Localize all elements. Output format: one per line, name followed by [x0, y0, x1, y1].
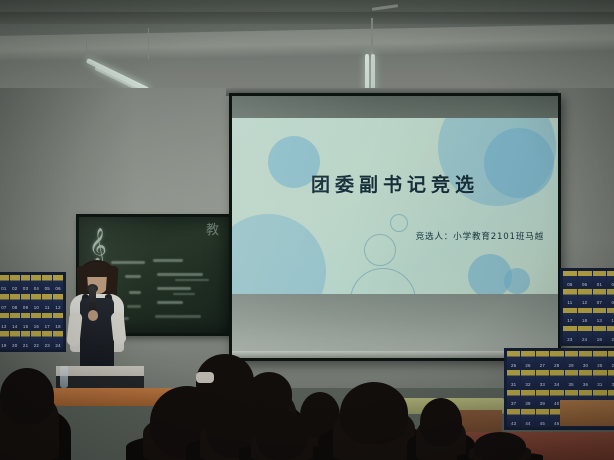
seat-pocket: 05 — [42, 275, 52, 293]
seat-number: 19 — [597, 338, 602, 343]
seat-number: 06 — [55, 287, 60, 292]
seat-pocket: 17 — [563, 308, 577, 325]
slide-subtitle: 竞选人：小学教育2101班马越 — [416, 230, 544, 242]
seat-number: 43 — [511, 422, 516, 427]
presenter-pinafore — [80, 298, 114, 376]
chalk-mark — [157, 301, 183, 304]
seat-number: 33 — [540, 383, 545, 388]
seat-pocket: 33 — [536, 370, 549, 388]
slide-circle-bottom-left-large — [232, 214, 326, 294]
seat-pocket: 11 — [563, 289, 577, 306]
chalk-mark — [155, 315, 201, 318]
seat-pocket: 09 — [21, 294, 31, 312]
seat-pocket: 12 — [53, 294, 63, 312]
seat-number: 12 — [55, 306, 60, 311]
seat-pocket: 25 — [593, 351, 606, 369]
presentation-slide: 团委副书记竞选 竞选人：小学教育2101班马越 — [232, 118, 558, 294]
seat-pocket: 13 — [0, 313, 9, 331]
seat-number: 24 — [55, 344, 60, 349]
water-bottle — [60, 366, 68, 388]
seat-number: 19 — [1, 344, 6, 349]
seat-number: 15 — [23, 325, 28, 330]
seat-pocket: 19 — [0, 331, 9, 349]
seat-number: 46 — [554, 422, 559, 427]
screen-surface: 团委副书记竞选 竞选人：小学教育2101班马越 — [232, 96, 558, 358]
light-hanger-rod-left2 — [148, 28, 149, 60]
seat-pocket: 32 — [608, 370, 614, 388]
seat-pocket: 24 — [578, 326, 592, 343]
seat-number: 20 — [12, 344, 17, 349]
seat-pocket: 20 — [607, 326, 614, 343]
seat-pocket: 32 — [521, 370, 534, 388]
slide-ring-center — [364, 234, 396, 266]
seat-pocket: 14 — [607, 308, 614, 325]
seat-number: 21 — [23, 344, 28, 349]
projection-screen: 团委副书记竞选 竞选人：小学教育2101班马越 — [229, 93, 561, 361]
seat-pocket: 23 — [42, 331, 52, 349]
right-upper-pocket-chart: 05060102111207081718131423241920 — [560, 268, 614, 346]
seat-number: 13 — [597, 319, 602, 324]
seat-pocket: 11 — [42, 294, 52, 312]
seat-pocket: 18 — [53, 313, 63, 331]
seat-pocket: 45 — [536, 409, 549, 427]
seat-pocket: 08 — [10, 294, 20, 312]
seat-pocket: 15 — [21, 313, 31, 331]
seat-pocket: 35 — [565, 370, 578, 388]
seat-pocket: 17 — [42, 313, 52, 331]
seat-number: 22 — [34, 344, 39, 349]
seat-number: 32 — [525, 383, 530, 388]
seat-number: 28 — [554, 364, 559, 369]
audience-head — [474, 432, 526, 460]
seat-pocket: 37 — [507, 390, 520, 408]
seat-number: 05 — [567, 283, 572, 288]
seat-pocket: 34 — [550, 370, 563, 388]
seat-number: 17 — [567, 319, 572, 324]
screen-top-band — [232, 96, 558, 118]
chalk-mark — [173, 293, 195, 295]
seat-pocket: 21 — [21, 331, 31, 349]
seat-pocket: 44 — [521, 409, 534, 427]
seat-number: 05 — [45, 287, 50, 292]
seat-number: 18 — [55, 325, 60, 330]
seat-number: 34 — [554, 383, 559, 388]
seat-pocket: 24 — [53, 331, 63, 349]
slide-ring-upper — [390, 214, 408, 232]
seat-pocket: 26 — [521, 351, 534, 369]
chalk-mark — [157, 287, 191, 290]
light-hanger-rod-center — [371, 18, 373, 56]
seat-pocket: 12 — [578, 289, 592, 306]
seat-pocket: 01 — [593, 271, 607, 288]
seat-pocket: 05 — [563, 271, 577, 288]
seat-number: 25 — [597, 364, 602, 369]
seat-number: 07 — [597, 301, 602, 306]
seat-number: 03 — [23, 287, 28, 292]
seat-pocket: 20 — [10, 331, 20, 349]
slide-title: 团委副书记竞选 — [232, 170, 558, 197]
seat-number: 01 — [1, 287, 6, 292]
seat-number: 45 — [540, 422, 545, 427]
seat-number: 01 — [597, 283, 602, 288]
seat-pocket: 10 — [31, 294, 41, 312]
seat-number: 12 — [582, 301, 587, 306]
seat-pocket: 39 — [536, 390, 549, 408]
seat-number: 17 — [45, 325, 50, 330]
seat-number: 27 — [540, 364, 545, 369]
seat-number: 10 — [34, 306, 39, 311]
desk-far-right — [560, 400, 614, 426]
seat-number: 39 — [540, 402, 545, 407]
seat-number: 35 — [569, 383, 574, 388]
seat-pocket: 07 — [593, 289, 607, 306]
seat-pocket: 38 — [521, 390, 534, 408]
hair-clip — [196, 372, 214, 383]
seat-number: 36 — [583, 383, 588, 388]
chalk-mark — [175, 279, 209, 281]
seat-pocket: 01 — [0, 275, 9, 293]
seat-pocket: 25 — [507, 351, 520, 369]
seat-pocket: 06 — [53, 275, 63, 293]
seat-number: 37 — [511, 402, 516, 407]
presenter-arm-right — [110, 311, 126, 344]
seat-number: 13 — [1, 325, 6, 330]
seat-pocket: 02 — [607, 271, 614, 288]
seat-pocket: 31 — [507, 370, 520, 388]
seat-pocket: 22 — [31, 331, 41, 349]
ceiling-edge-beam — [0, 12, 614, 24]
seat-number: 31 — [597, 383, 602, 388]
seat-number: 25 — [511, 364, 516, 369]
seat-pocket: 02 — [10, 275, 20, 293]
seat-pocket: 07 — [0, 294, 9, 312]
seat-pocket: 16 — [31, 313, 41, 331]
seat-pocket: 23 — [563, 326, 577, 343]
blackboard-character: 教 — [206, 219, 219, 238]
slide-circle-bottom-right-small — [504, 268, 530, 294]
seat-pocket: 30 — [579, 351, 592, 369]
seat-number: 23 — [45, 344, 50, 349]
presenter-student — [66, 258, 128, 376]
audience-head — [0, 368, 54, 424]
seat-number: 23 — [567, 338, 572, 343]
seat-pocket: 26 — [608, 351, 614, 369]
seat-pocket: 28 — [550, 351, 563, 369]
seat-number: 30 — [583, 364, 588, 369]
audience-head — [340, 382, 408, 444]
classroom-photo: 𝄞 教 010203040506070809101112131415161718… — [0, 0, 614, 460]
chalk-mark — [157, 273, 203, 276]
seat-number: 04 — [34, 287, 39, 292]
seat-number: 08 — [12, 306, 17, 311]
seat-pocket: 27 — [536, 351, 549, 369]
seat-number: 11 — [45, 306, 50, 311]
seat-pocket: 14 — [10, 313, 20, 331]
seat-number: 18 — [582, 319, 587, 324]
light-hanger-rod-left — [86, 34, 87, 60]
seat-number: 14 — [12, 325, 17, 330]
seat-number: 38 — [525, 402, 530, 407]
seat-pocket: 03 — [21, 275, 31, 293]
presenter-hand — [88, 310, 98, 321]
left-pocket-chart: 0102030405060708091011121314151617181920… — [0, 272, 66, 352]
treble-clef-icon: 𝄞 — [89, 231, 107, 261]
seat-pocket: 36 — [579, 370, 592, 388]
seat-pocket: 08 — [607, 289, 614, 306]
seat-pocket: 13 — [593, 308, 607, 325]
seat-pocket: 06 — [578, 271, 592, 288]
audience-head — [420, 398, 462, 446]
chalk-mark — [127, 305, 141, 308]
seat-number: 24 — [582, 338, 587, 343]
seat-number: 16 — [34, 325, 39, 330]
seat-number: 29 — [569, 364, 574, 369]
chalk-mark — [153, 259, 183, 262]
seat-number: 40 — [554, 402, 559, 407]
seat-number: 07 — [1, 306, 6, 311]
seat-pocket: 19 — [593, 326, 607, 343]
seat-pocket: 04 — [31, 275, 41, 293]
seat-number: 02 — [12, 287, 17, 292]
seat-number: 31 — [511, 383, 516, 388]
seat-pocket: 43 — [507, 409, 520, 427]
slide-ring-lower-outline — [350, 268, 416, 294]
seat-number: 26 — [525, 364, 530, 369]
seat-number: 44 — [525, 422, 530, 427]
chalk-mark — [129, 291, 141, 294]
seat-number: 06 — [582, 283, 587, 288]
audience-head — [256, 410, 308, 460]
seat-number: 09 — [23, 306, 28, 311]
seat-number: 11 — [567, 301, 572, 306]
seat-pocket: 31 — [593, 370, 606, 388]
seat-pocket: 18 — [578, 308, 592, 325]
seat-pocket: 29 — [565, 351, 578, 369]
